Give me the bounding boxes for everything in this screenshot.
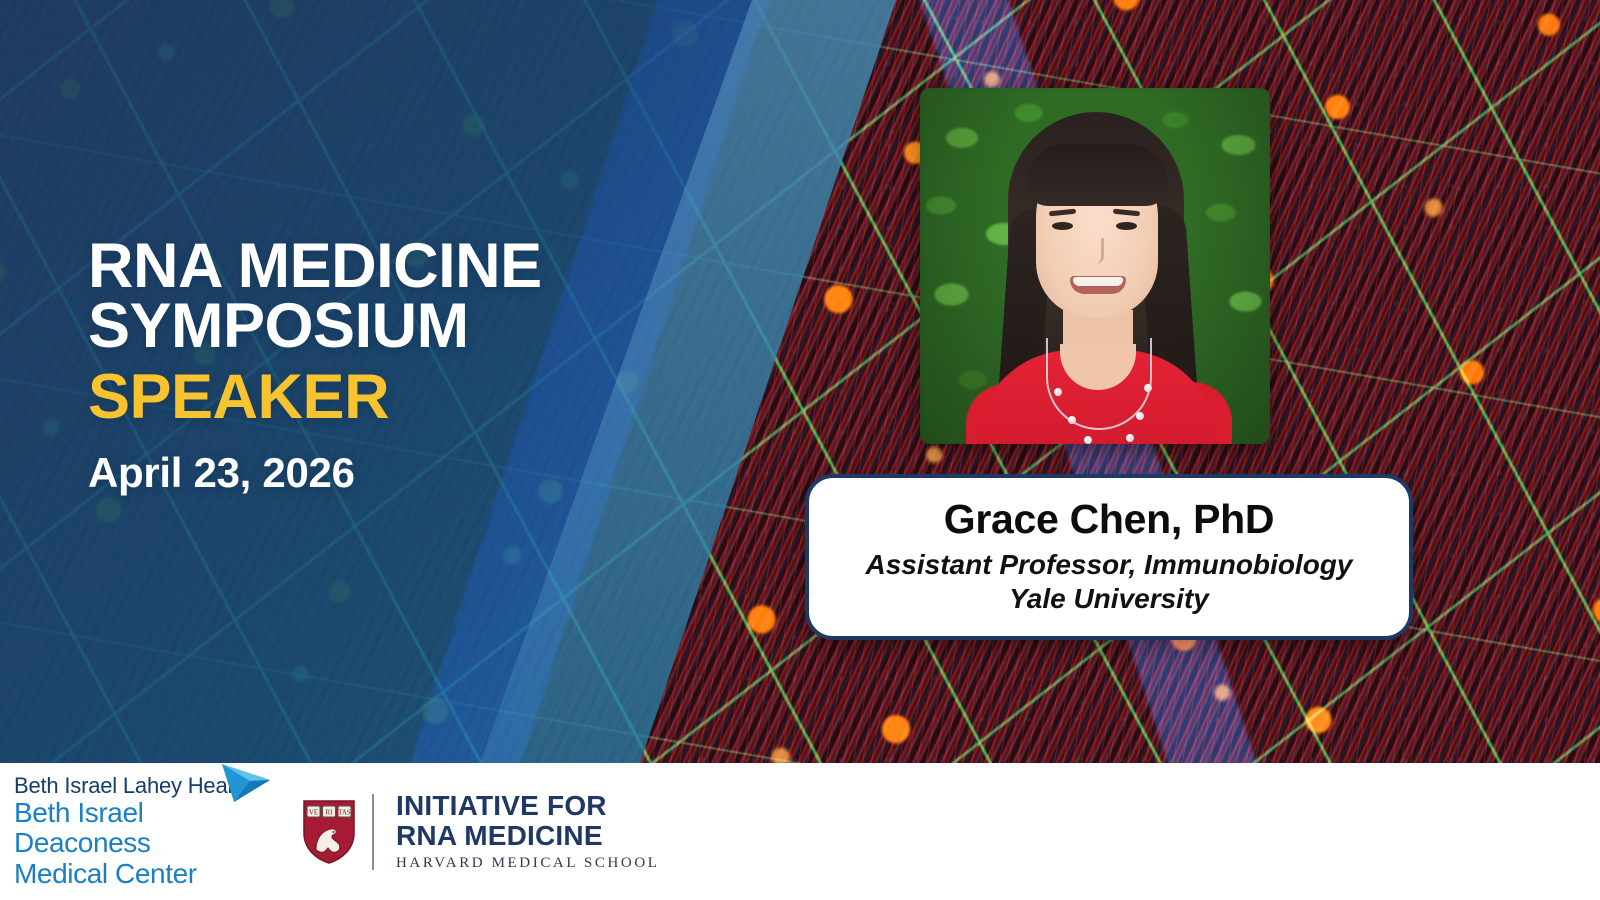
bidmc-logo: Beth Israel Lahey Health Beth Israel Dea… [14, 774, 282, 889]
photo-mouth [1070, 276, 1126, 294]
bidmc-name-line-1: Beth Israel Deaconess [14, 798, 282, 858]
harvard-medical-school-shield-icon: VE RI TAS [302, 799, 356, 865]
speaker-name: Grace Chen, PhD [944, 496, 1274, 543]
speaker-role: Assistant Professor, Immunobiology [866, 549, 1353, 581]
photo-eye-left [1052, 222, 1073, 230]
speaker-organization: Yale University [1009, 583, 1209, 615]
photo-fringe [1026, 144, 1168, 206]
symposium-speaker-poster: RNA MEDICINE SYMPOSIUM SPEAKER April 23,… [0, 0, 1600, 900]
svg-text:TAS: TAS [338, 808, 351, 816]
headline-line-2: SYMPOSIUM [88, 296, 788, 356]
photo-eye-right [1116, 222, 1137, 230]
irm-subtitle: HARVARD MEDICAL SCHOOL [396, 855, 660, 872]
photo-nose [1090, 238, 1104, 264]
speaker-photo [920, 88, 1270, 444]
photo-necklace-bead [1084, 436, 1092, 444]
irm-title-line-2: RNA MEDICINE [396, 821, 660, 851]
irm-title-line-1: INITIATIVE FOR [396, 791, 660, 821]
event-date: April 23, 2026 [88, 449, 788, 497]
photo-necklace-bead [1136, 412, 1144, 420]
bilh-arrow-icon [220, 760, 276, 804]
photo-necklace-bead [1144, 384, 1152, 392]
photo-teeth [1073, 277, 1123, 286]
bidmc-name-line-2: Medical Center [14, 859, 282, 889]
headline-block: RNA MEDICINE SYMPOSIUM SPEAKER April 23,… [88, 236, 788, 497]
photo-necklace-bead [1054, 388, 1062, 396]
svg-text:RI: RI [326, 808, 334, 816]
photo-necklace-bead [1068, 416, 1076, 424]
footer-logo-bar: Beth Israel Lahey Health Beth Israel Dea… [0, 763, 1600, 900]
headline-speaker-label: SPEAKER [88, 367, 788, 427]
initiative-for-rna-medicine-logo: VE RI TAS INITIATIVE FOR RNA MEDICINE HA… [302, 791, 660, 872]
speaker-info-card: Grace Chen, PhD Assistant Professor, Imm… [805, 474, 1413, 640]
logo-divider [372, 794, 374, 870]
headline-line-1: RNA MEDICINE [88, 236, 788, 296]
svg-text:VE: VE [309, 808, 318, 816]
irm-wordmark: INITIATIVE FOR RNA MEDICINE HARVARD MEDI… [396, 791, 660, 872]
photo-necklace-bead [1126, 434, 1134, 442]
